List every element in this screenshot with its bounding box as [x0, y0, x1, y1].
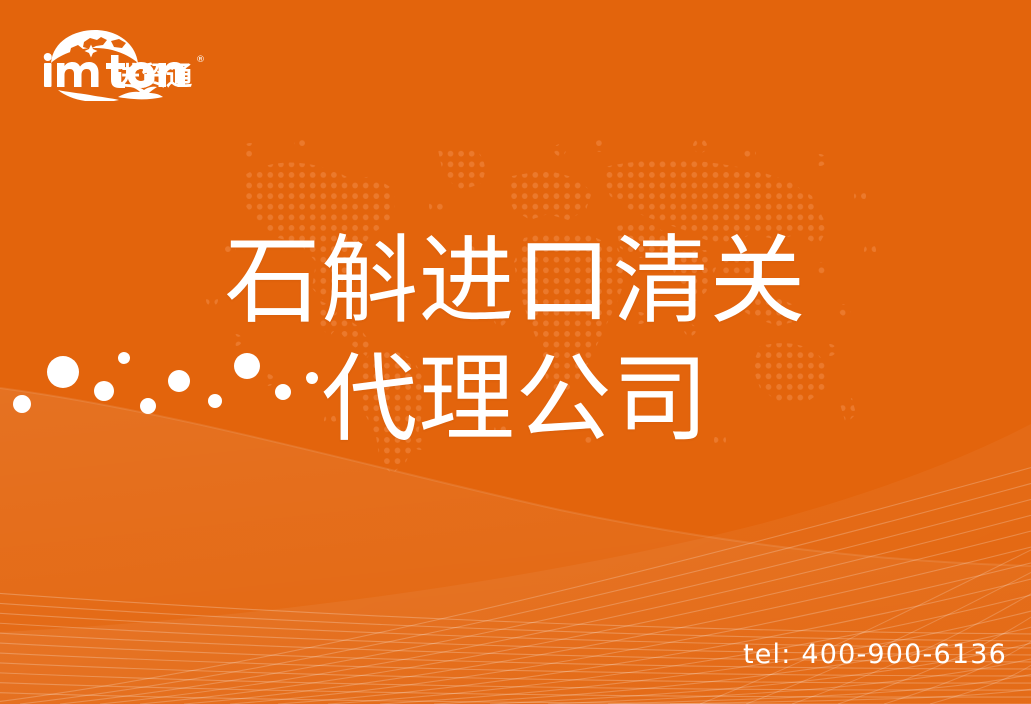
headline-line-1: 石斛进口清关: [0, 222, 1031, 340]
promo-banner: 进贸通 ® 石斛进口清关 代理公司 tel: 400-900-6136: [0, 0, 1031, 704]
registered-mark-icon: ®: [196, 55, 205, 65]
jet-swoosh-icon: [58, 87, 163, 101]
headline: 石斛进口清关 代理公司: [0, 222, 1031, 458]
telephone[interactable]: tel: 400-900-6136: [743, 639, 1007, 670]
globe-icon: [51, 30, 138, 63]
logo[interactable]: 进贸通 ®: [36, 27, 212, 101]
headline-line-2: 代理公司: [0, 340, 1031, 458]
